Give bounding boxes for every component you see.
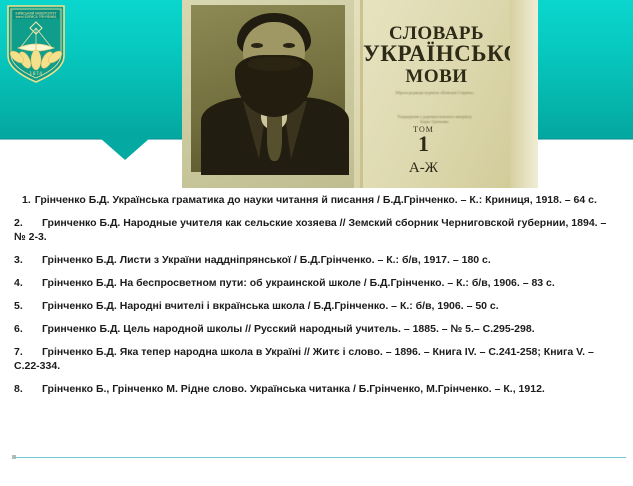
bibliography-list: 1.Грінченко Б.Д. Українська граматика до… xyxy=(0,193,633,405)
bibliography-item-4-number: 4. xyxy=(14,276,38,290)
image-pair: СЛОВАРЬ УКРАЇНСЬКОЇ МОВИ Зібрала редакці… xyxy=(182,0,538,188)
bibliography-item-5-text: Грінченко Б.Д. Народні вчителі і вкраїнс… xyxy=(42,300,499,312)
svg-text:імені БОРИСА ГРІНЧЕНКА: імені БОРИСА ГРІНЧЕНКА xyxy=(16,15,58,19)
bibliography-item-8-number: 8. xyxy=(14,382,38,396)
bibliography-item-7: 7.Грінченко Б.Д. Яка тепер народна школа… xyxy=(0,345,614,373)
portrait-eye-right xyxy=(283,43,295,48)
bibliography-item-3-number: 3. xyxy=(14,253,38,267)
bibliography-item-7-number: 7. xyxy=(14,345,38,359)
bibliography-item-7-text: Грінченко Б.Д. Яка тепер народна школа в… xyxy=(14,346,594,372)
portrait-frame xyxy=(191,5,345,172)
bibliography-item-5: 5.Грінченко Б.Д. Народні вчителі і вкраї… xyxy=(0,299,633,313)
footer-divider xyxy=(14,457,626,458)
book-page-edge xyxy=(510,0,538,188)
portrait-moustache xyxy=(247,57,301,71)
bibliography-item-8-text: Грінченко Б., Грінченко М. Рідне слово. … xyxy=(42,383,545,395)
book-cover-photo-slovar: СЛОВАРЬ УКРАЇНСЬКОЇ МОВИ Зібрала редакці… xyxy=(354,0,538,188)
bibliography-item-2-text: Гринченко Б.Д. Народные учителя как сель… xyxy=(14,217,606,243)
bibliography-item-6-number: 6. xyxy=(14,322,38,336)
bibliography-item-4: 4.Грінченко Б.Д. На беспросветном пути: … xyxy=(0,276,633,290)
bibliography-item-1: 1.Грінченко Б.Д. Українська граматика до… xyxy=(0,193,622,207)
bibliography-item-3: 3.Грінченко Б.Д. Листи з України наддніп… xyxy=(0,253,633,267)
bibliography-item-1-text: Грінченко Б.Д. Українська граматика до н… xyxy=(35,194,597,206)
book-letter-range: А-Ж xyxy=(363,160,484,177)
bibliography-item-1-number: 1. xyxy=(22,193,31,207)
university-crest-logo: КИЇВСЬКИЙ УНІВЕРСИТЕТ імені БОРИСА ГРІНЧ… xyxy=(6,4,66,84)
book-title-line2: УКРАЇНСЬКОЇ xyxy=(363,41,510,67)
bibliography-item-5-number: 5. xyxy=(14,299,38,313)
bibliography-item-3-text: Грінченко Б.Д. Листи з України наддніпря… xyxy=(42,254,491,266)
slide-canvas: КИЇВСЬКИЙ УНІВЕРСИТЕТ імені БОРИСА ГРІНЧ… xyxy=(0,0,633,486)
bibliography-item-6-text: Гринченко Б.Д. Цель народной школы // Ру… xyxy=(42,323,535,335)
header-band-notch xyxy=(100,138,150,160)
book-editor-note: Упорядкував з додатком власного матеріал… xyxy=(393,114,476,124)
book-page: СЛОВАРЬ УКРАЇНСЬКОЇ МОВИ Зібрала редакці… xyxy=(360,0,510,188)
bibliography-item-4-text: Грінченко Б.Д. На беспросветном пути: об… xyxy=(42,277,555,289)
bibliography-item-2-number: 2. xyxy=(14,216,38,230)
book-subtitle: Зібрала редакція журнала «Кіевская Стари… xyxy=(385,90,484,96)
svg-text:1874: 1874 xyxy=(29,71,42,77)
portrait-eye-left xyxy=(251,43,263,48)
bibliography-item-6: 6.Гринченко Б.Д. Цель народной школы // … xyxy=(0,322,633,336)
book-volume-number: 1 xyxy=(363,131,484,157)
portrait-photo-hrinchenko xyxy=(182,0,354,188)
bibliography-item-2: 2.Гринченко Б.Д. Народные учителя как се… xyxy=(0,216,614,244)
book-title-line3: МОВИ xyxy=(363,66,510,88)
bibliography-item-8: 8.Грінченко Б., Грінченко М. Рідне слово… xyxy=(0,382,633,396)
